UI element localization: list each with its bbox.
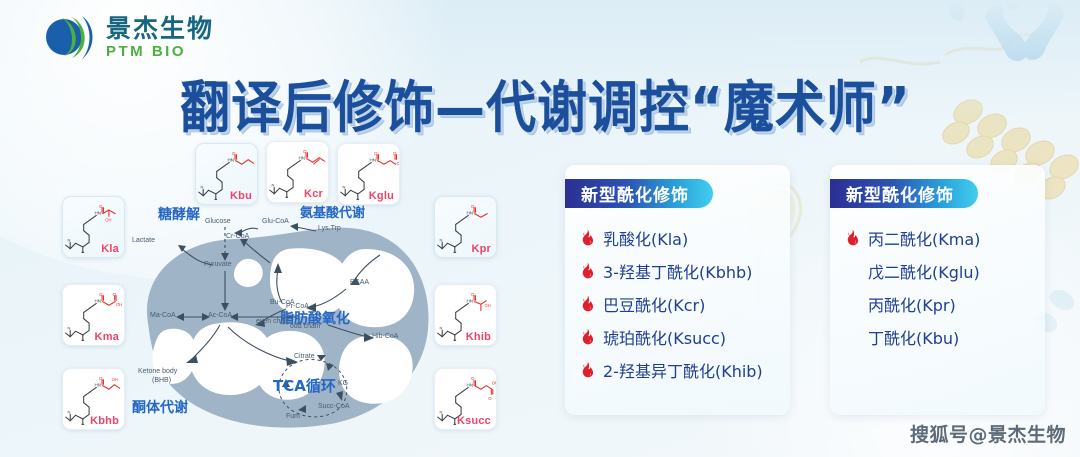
- panel-item[interactable]: 2-羟基异丁酰化(Khib): [579, 353, 780, 386]
- svg-text:O: O: [471, 376, 475, 381]
- panel-item[interactable]: 戊二酰化(Kglu): [844, 254, 1035, 287]
- metabolite-pyruvate: Pyruvate: [204, 261, 232, 268]
- panel-item-label: 丙二酰化(Kma): [868, 226, 980, 250]
- metabolite-pr-coa: Pr-CoA: [286, 303, 309, 310]
- panel-list-right: 丙二酰化(Kma)戊二酰化(Kglu)丙酰化(Kpr)丁酰化(Kbu): [844, 221, 1035, 353]
- svg-text:HN: HN: [299, 156, 306, 161]
- metabolite-glucose: Glucose: [205, 218, 231, 225]
- metabolite-ac-coa: Ac-CoA: [208, 312, 232, 319]
- pathway-label-tca-cycle: TCA循环: [273, 375, 336, 396]
- metabolite-ketone-body: Ketone body: [138, 368, 177, 375]
- flame-icon: [579, 229, 595, 246]
- svg-text:O: O: [488, 396, 492, 401]
- metabolite-hib-coa: Hib-CoA: [372, 333, 398, 340]
- svg-text:HN: HN: [467, 383, 474, 388]
- svg-text:O: O: [99, 292, 103, 297]
- svg-text:HN: HN: [95, 299, 102, 304]
- svg-text:O: O: [232, 151, 236, 156]
- flame-icon: [579, 361, 595, 378]
- metabolite-bcaa: BCAA: [350, 279, 369, 286]
- metabolite-cr-coa: Cr-CoA: [226, 233, 249, 240]
- svg-text:N: N: [68, 326, 71, 331]
- svg-text:O: O: [471, 204, 475, 209]
- metabolite-fum: Fum: [286, 413, 300, 420]
- metabolic-pathway-diagram: 糖酵解 氨基酸代谢 脂肪酸氧化 TCA循环 酮体代谢 Glucose Lacta…: [110, 205, 450, 440]
- brand-name-en: PTM BIO: [106, 44, 214, 59]
- metabolite-odd-chain: odd chain: [290, 323, 312, 331]
- panel-item-label: 戊二酰化(Kglu): [868, 259, 980, 283]
- svg-text:O: O: [374, 151, 378, 156]
- metabolite-lactate: Lactate: [132, 237, 155, 244]
- panel-list-left: 乳酸化(Kla)3-羟基丁酰化(Kbhb)巴豆酰化(Kcr)琥珀酰化(Ksucc…: [579, 221, 780, 386]
- chem-structure-card: HNNOKbu: [195, 143, 258, 205]
- svg-text:O: O: [471, 292, 475, 297]
- panel-novel-acylation-right: 新型酰化修饰 丙二酰化(Kma)戊二酰化(Kglu)丙酰化(Kpr)丁酰化(Kb…: [830, 165, 1045, 415]
- chem-card-label: Kpr: [471, 243, 491, 255]
- panel-item-label: 乳酸化(Kla): [603, 226, 688, 250]
- brand-logo: 景杰生物 PTM BIO: [42, 12, 214, 62]
- svg-text:N: N: [68, 410, 71, 415]
- svg-text:O: O: [393, 151, 397, 156]
- metabolite-ma-coa: Ma-CoA: [150, 312, 176, 319]
- flame-icon: [579, 295, 595, 312]
- pathway-label-glycolysis: 糖酵解: [158, 204, 200, 224]
- chem-card-label: Ksucc: [457, 415, 491, 427]
- panel-item-label: 丁酰化(Kbu): [868, 325, 959, 349]
- svg-text:HN: HN: [95, 383, 102, 388]
- panel-item-label: 琥珀酰化(Ksucc): [603, 325, 726, 349]
- svg-text:O: O: [99, 376, 103, 381]
- panel-item[interactable]: 琥珀酰化(Ksucc): [579, 320, 780, 353]
- svg-text:OH: OH: [485, 303, 491, 308]
- pathway-label-ketone: 酮体代谢: [132, 397, 188, 417]
- svg-text:O: O: [99, 204, 103, 209]
- pathway-label-amino-acid: 氨基酸代谢: [300, 202, 365, 221]
- page-title: 翻译后修饰—代谢调控“魔术师”: [180, 63, 900, 132]
- panel-item-label: 2-羟基异丁酰化(Khib): [603, 358, 763, 382]
- chem-card-label: Kcr: [304, 188, 323, 200]
- svg-text:HN: HN: [95, 211, 102, 216]
- panel-item[interactable]: 丁酰化(Kbu): [844, 320, 1035, 353]
- svg-text:N: N: [343, 185, 346, 190]
- metabolite-citrate: Citrate: [294, 353, 315, 360]
- svg-text:HN: HN: [467, 299, 474, 304]
- flame-icon: [844, 229, 860, 246]
- svg-text:HN: HN: [370, 158, 377, 163]
- chem-card-label: Kglu: [369, 190, 394, 202]
- svg-text:N: N: [272, 183, 275, 188]
- metabolite-even-chain: even chain: [256, 318, 278, 326]
- metabolite-lys-trp: Lys,Trp: [318, 225, 341, 232]
- panel-item[interactable]: 乳酸化(Kla): [579, 221, 780, 254]
- panel-novel-acylation-left: 新型酰化修饰 乳酸化(Kla)3-羟基丁酰化(Kbhb)巴豆酰化(Kcr)琥珀酰…: [565, 165, 790, 415]
- svg-text:N: N: [68, 238, 71, 243]
- svg-text:HN: HN: [228, 158, 235, 163]
- chem-card-label: Kbu: [230, 190, 252, 202]
- chem-card-label: Khib: [466, 331, 491, 343]
- panel-header-left: 新型酰化修饰: [565, 179, 713, 208]
- panel-item-label: 丙酰化(Kpr): [868, 292, 956, 316]
- chem-structure-card: HNNOKcr: [266, 141, 329, 203]
- metabolite-glu-coa: Glu-CoA: [262, 218, 289, 225]
- panel-item[interactable]: 3-羟基丁酰化(Kbhb): [579, 254, 780, 287]
- metabolite-succ-coa: Succ-CoA: [318, 403, 350, 410]
- panel-item[interactable]: 丙酰化(Kpr): [844, 287, 1035, 320]
- svg-text:OH: OH: [492, 381, 497, 386]
- svg-text:N: N: [201, 185, 204, 190]
- panel-item-label: 3-羟基丁酰化(Kbhb): [603, 259, 752, 283]
- svg-text:OH: OH: [397, 161, 401, 166]
- panel-item[interactable]: 巴豆酰化(Kcr): [579, 287, 780, 320]
- metabolite-bhb: (BHB): [152, 377, 171, 384]
- svg-text:HN: HN: [467, 211, 474, 216]
- panel-header-right: 新型酰化修饰: [830, 179, 978, 208]
- panel-item[interactable]: 丙二酰化(Kma): [844, 221, 1035, 254]
- leaf-sphere-logo-icon: [42, 12, 98, 62]
- brand-name-cn: 景杰生物: [106, 16, 214, 41]
- flame-icon: [579, 328, 595, 345]
- poster-canvas: 景杰生物 PTM BIO 翻译后修饰—代谢调控“魔术师” HNNOKbuHNNO…: [0, 0, 1080, 457]
- chem-structure-card: HNNOOOHKglu: [337, 143, 400, 205]
- svg-text:O: O: [303, 149, 307, 154]
- watermark: 搜狐号@景杰生物: [910, 420, 1066, 447]
- panel-item-label: 巴豆酰化(Kcr): [603, 292, 705, 316]
- metabolite-kg: KG: [338, 380, 348, 387]
- flame-icon: [579, 262, 595, 279]
